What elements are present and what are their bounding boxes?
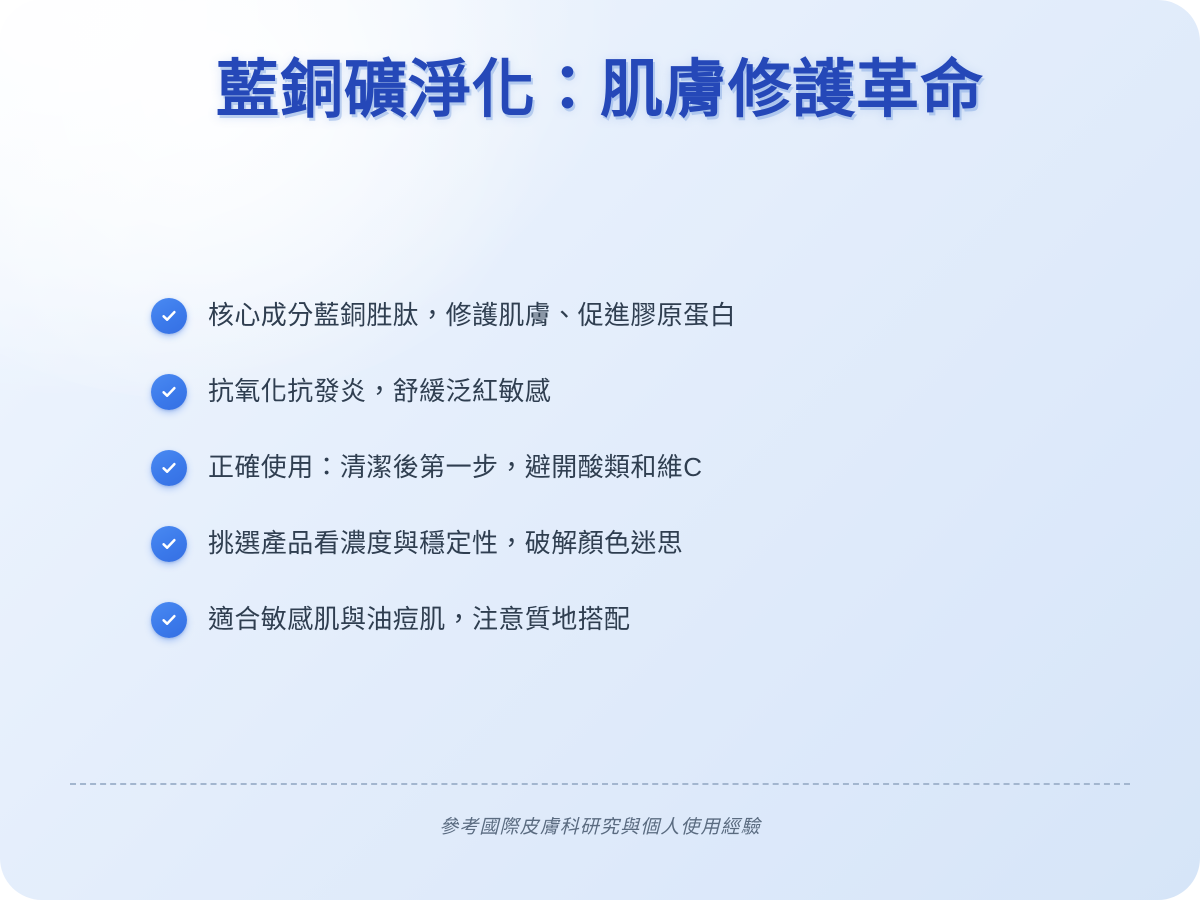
footer-note: 參考國際皮膚科研究與個人使用經驗 [0, 812, 1200, 839]
list-item: 正確使用：清潔後第一步，避開酸類和維C [151, 448, 1111, 488]
title-container: 藍銅礦淨化：肌膚修護革命 [0, 52, 1200, 126]
bullet-list: 核心成分藍銅胜肽，修護肌膚、促進膠原蛋白 抗氧化抗發炎，舒緩泛紅敏感 正確使用：… [151, 296, 1111, 640]
list-item: 抗氧化抗發炎，舒緩泛紅敏感 [151, 372, 1111, 412]
check-circle-icon [151, 374, 187, 410]
check-circle-icon [151, 602, 187, 638]
check-circle-icon [151, 526, 187, 562]
list-item: 核心成分藍銅胜肽，修護肌膚、促進膠原蛋白 [151, 296, 1111, 336]
check-circle-icon [151, 450, 187, 486]
list-item-label: 抗氧化抗發炎，舒緩泛紅敏感 [208, 374, 551, 409]
list-item: 挑選產品看濃度與穩定性，破解顏色迷思 [151, 524, 1111, 564]
page-title: 藍銅礦淨化：肌膚修護革命 [0, 52, 1200, 126]
list-item-label: 正確使用：清潔後第一步，避開酸類和維C [208, 450, 702, 485]
footer-divider [70, 783, 1130, 785]
slide-card: 藍銅礦淨化：肌膚修護革命 核心成分藍銅胜肽，修護肌膚、促進膠原蛋白 抗氧化抗發炎… [0, 0, 1200, 900]
list-item: 適合敏感肌與油痘肌，注意質地搭配 [151, 600, 1111, 640]
list-item-label: 適合敏感肌與油痘肌，注意質地搭配 [208, 602, 630, 637]
check-circle-icon [151, 298, 187, 334]
list-item-label: 挑選產品看濃度與穩定性，破解顏色迷思 [208, 526, 683, 561]
list-item-label: 核心成分藍銅胜肽，修護肌膚、促進膠原蛋白 [208, 298, 736, 333]
